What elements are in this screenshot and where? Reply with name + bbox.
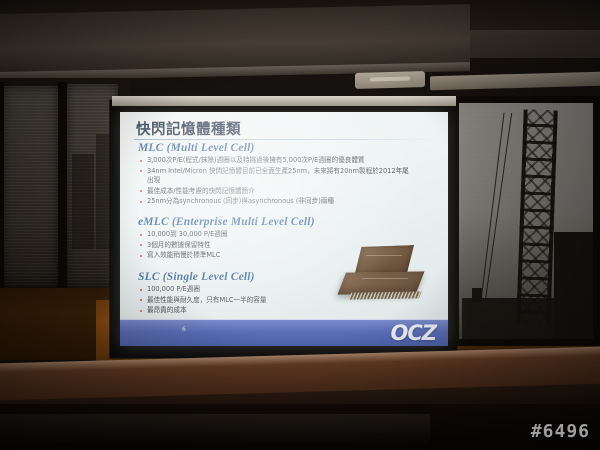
rooftop-silhouette bbox=[462, 298, 554, 342]
window-mullion bbox=[58, 82, 67, 290]
section-mlc: MLC (Multi Level Cell) 3,000次P/E(程式/抹除)週… bbox=[138, 142, 415, 208]
rooftop-vent bbox=[472, 288, 482, 302]
title-divider bbox=[134, 139, 434, 140]
foreground-surface bbox=[0, 414, 430, 444]
list-item: 3,000次P/E(程式/抹除)週圈以及特挑過後擁有5,000次P/E週圈的優良… bbox=[138, 156, 415, 165]
projector-screen-roller bbox=[430, 72, 600, 91]
slide-footer: 6 OCZ bbox=[120, 319, 448, 346]
window-left bbox=[2, 86, 58, 286]
list-item: 寫入效能稍慢於標準MLC bbox=[138, 251, 315, 260]
slide-title: 快閃記憶體種類 bbox=[136, 118, 241, 139]
chip-marking bbox=[362, 278, 408, 279]
list-item: 34nm Intel/Micron 快閃記憶體目前已全面生產25nm，未來將有2… bbox=[138, 167, 415, 185]
flash-chip-image bbox=[336, 246, 432, 308]
section-mlc-bullets: 3,000次P/E(程式/抹除)週圈以及特挑過後擁有5,000次P/E週圈的優良… bbox=[138, 156, 415, 207]
image-watermark: #6496 bbox=[531, 421, 590, 442]
section-emlc: eMLC (Enterprise Multi Level Cell) 10,00… bbox=[138, 216, 315, 262]
building-silhouette bbox=[554, 232, 600, 342]
presentation-slide: 快閃記憶體種類 MLC (Multi Level Cell) 3,000次P/E… bbox=[120, 112, 448, 346]
section-slc: SLC (Single Level Cell) 100,000 P/E週圈 最佳… bbox=[138, 271, 266, 317]
ocz-logo: OCZ bbox=[391, 321, 437, 345]
section-slc-bullets: 100,000 P/E週圈 最佳性能與耐久度，只有MLC一半的容量 最昂貴的成本 bbox=[138, 285, 266, 316]
projection-screen-top-bar bbox=[112, 96, 456, 106]
slide-page-number: 6 bbox=[182, 326, 186, 333]
list-item: 25nm分為synchronous (同步)與asynchronous (非同步… bbox=[138, 197, 415, 206]
list-item: 最佳性能與耐久度，只有MLC一半的容量 bbox=[138, 296, 266, 305]
chip-label-line bbox=[366, 255, 402, 256]
list-item: 最昂貴的成本 bbox=[138, 306, 266, 315]
chip-pins bbox=[348, 291, 421, 299]
building-silhouette bbox=[72, 154, 94, 249]
meeting-room-scene: 快閃記憶體種類 MLC (Multi Level Cell) 3,000次P/E… bbox=[0, 0, 600, 450]
list-item: 100,000 P/E週圈 bbox=[138, 285, 266, 294]
section-slc-heading: SLC (Single Level Cell) bbox=[138, 271, 266, 283]
window-blind-left bbox=[2, 86, 58, 286]
window-mullion bbox=[0, 82, 4, 290]
section-emlc-bullets: 10,000到 30,000 P/E週圈 3個月的數據保留特性 寫入效能稍慢於標… bbox=[138, 230, 315, 261]
section-emlc-heading: eMLC (Enterprise Multi Level Cell) bbox=[138, 216, 315, 228]
section-mlc-heading: MLC (Multi Level Cell) bbox=[138, 142, 415, 154]
list-item: 3個月的數據保留特性 bbox=[138, 241, 315, 250]
window-right bbox=[452, 96, 600, 346]
list-item: 最佳成本/性能考慮的快閃記憶體簡介 bbox=[138, 187, 415, 196]
list-item: 10,000到 30,000 P/E週圈 bbox=[138, 230, 315, 239]
